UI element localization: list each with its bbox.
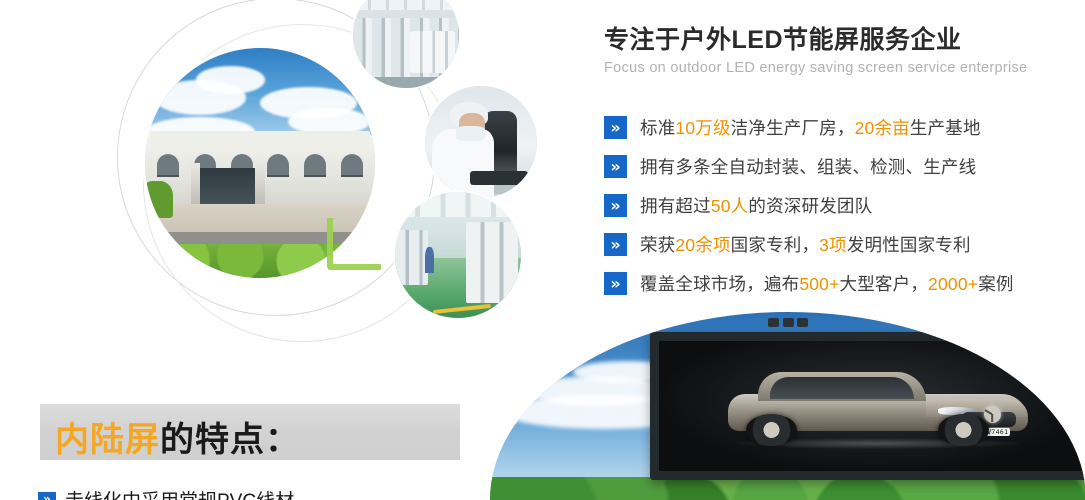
feature-item: »荣获20余项国家专利，3项发明性国家专利 [604,225,1084,264]
feature-text: 的资深研发团队 [748,196,872,216]
silver-sedan-car-advertisement: S-MV7461 [728,367,1028,448]
feature-text: 标准 [640,118,675,138]
double-chevron-right-icon: » [604,155,627,178]
section-sub-item: » 走线化中采用常规PVC线材 [38,486,294,500]
double-chevron-right-icon: » [604,233,627,256]
feature-text: 拥有超过 [640,196,711,216]
headline-block: 专注于户外LED节能屏服务企业 Focus on outdoor LED ene… [604,26,1074,76]
feature-item-label: 荣获20余项国家专利，3项发明性国家专利 [640,232,971,257]
feature-text: 生产基地 [910,118,981,138]
feature-highlight: 500+ [799,274,839,294]
feature-highlight: 2000+ [928,274,978,294]
feature-text: 洁净生产厂房， [731,118,855,138]
feature-item: »拥有多条全自动封装、组装、检测、生产线 [604,147,1084,186]
feature-highlight: 50人 [711,196,749,216]
section-title-rest: 的特点： [160,421,300,459]
feature-item: »标准10万级洁净生产厂房，20余亩生产基地 [604,108,1084,147]
feature-item-label: 覆盖全球市场，遍布500+大型客户，2000+案例 [640,271,1014,296]
section-sub-item-label: 走线化中采用常规PVC线材 [65,486,294,500]
feature-item-label: 拥有多条全自动封装、组装、检测、生产线 [640,154,976,179]
billboard-lamps [768,318,808,327]
feature-text: 荣获 [640,235,675,255]
feature-highlight: 20余项 [675,235,730,255]
mercedes-star-icon [984,406,1001,423]
feature-text: 案例 [978,274,1013,294]
feature-highlight: 20余亩 [855,118,910,138]
double-chevron-right-icon: » [604,194,627,217]
headline-title-cn: 专注于户外LED节能屏服务企业 [604,26,1074,55]
feature-highlight: 3项 [819,235,847,255]
feature-text: 覆盖全球市场，遍布 [640,274,799,294]
feature-text: 大型客户， [840,274,929,294]
feature-item-label: 拥有超过50人的资深研发团队 [640,193,872,218]
led-screen: S-MV7461 [650,332,1085,480]
green-sign-decor [327,218,381,270]
smt-assembly-line-photo [353,0,459,88]
section-title: 内陆屏的特点： [55,412,300,461]
microscope-inspection-photo [425,86,537,198]
outdoor-led-billboard-photo: S-MV7461 [490,312,1085,500]
photo-collage [95,0,545,340]
production-workshop-photo [395,192,521,318]
double-chevron-right-icon: » [604,272,627,295]
section-title-highlight: 内陆屏 [55,421,160,459]
feature-text: 国家专利， [731,235,820,255]
double-chevron-right-icon: » [38,492,56,500]
feature-item: »覆盖全球市场，遍布500+大型客户，2000+案例 [604,264,1084,303]
headline-subtitle-en: Focus on outdoor LED energy saving scree… [604,60,1074,76]
promo-banner: 专注于户外LED节能屏服务企业 Focus on outdoor LED ene… [0,0,1085,500]
feature-list: »标准10万级洁净生产厂房，20余亩生产基地»拥有多条全自动封装、组装、检测、生… [604,108,1084,303]
double-chevron-right-icon: » [604,116,627,139]
feature-highlight: 10万级 [675,118,730,138]
feature-text: 拥有多条全自动封装、组装、检测、生产线 [640,157,976,177]
feature-text: 发明性国家专利 [847,235,971,255]
feature-item: »拥有超过50人的资深研发团队 [604,186,1084,225]
feature-item-label: 标准10万级洁净生产厂房，20余亩生产基地 [640,115,981,140]
